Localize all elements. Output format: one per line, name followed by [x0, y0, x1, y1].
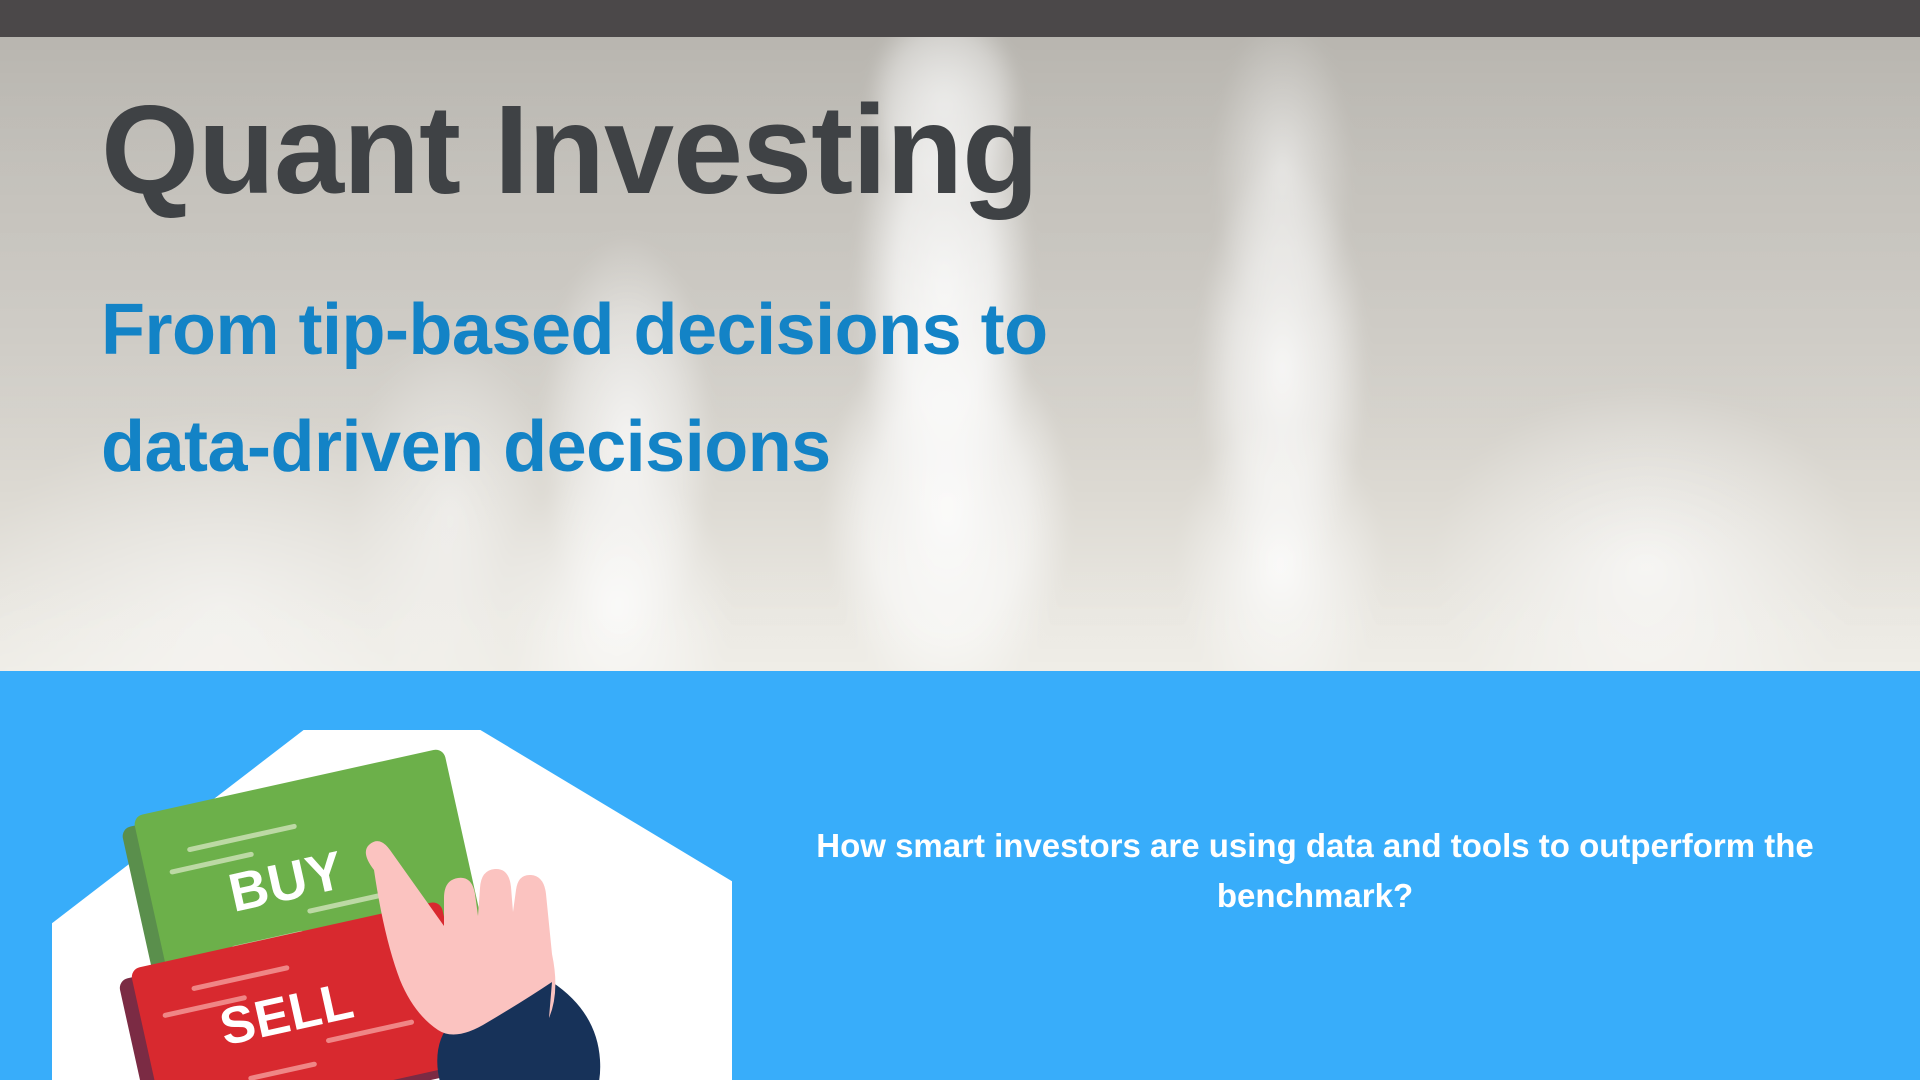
- slide-canvas: Quant Investing From tip-based decisions…: [0, 0, 1920, 1080]
- page-subtitle: From tip-based decisions to data-driven …: [101, 272, 1048, 505]
- buy-sell-illustration: BUY SELL: [52, 730, 732, 1080]
- buy-card-label: BUY: [223, 839, 349, 925]
- blue-banner: BUY SELL How smart investors are using d…: [0, 671, 1920, 1080]
- subtitle-line-1: From tip-based decisions to: [101, 272, 1048, 389]
- subtitle-line-2: data-driven decisions: [101, 389, 1048, 506]
- question-text: How smart investors are using data and t…: [760, 821, 1870, 921]
- hero-section: Quant Investing From tip-based decisions…: [0, 37, 1920, 671]
- page-title: Quant Investing: [101, 87, 1038, 213]
- sell-card-label: SELL: [215, 971, 360, 1059]
- top-bar: [0, 0, 1920, 37]
- hero-text-block: Quant Investing From tip-based decisions…: [0, 37, 1920, 671]
- buy-decor-line-1: [187, 823, 297, 852]
- sell-decor-line-4: [248, 1061, 317, 1080]
